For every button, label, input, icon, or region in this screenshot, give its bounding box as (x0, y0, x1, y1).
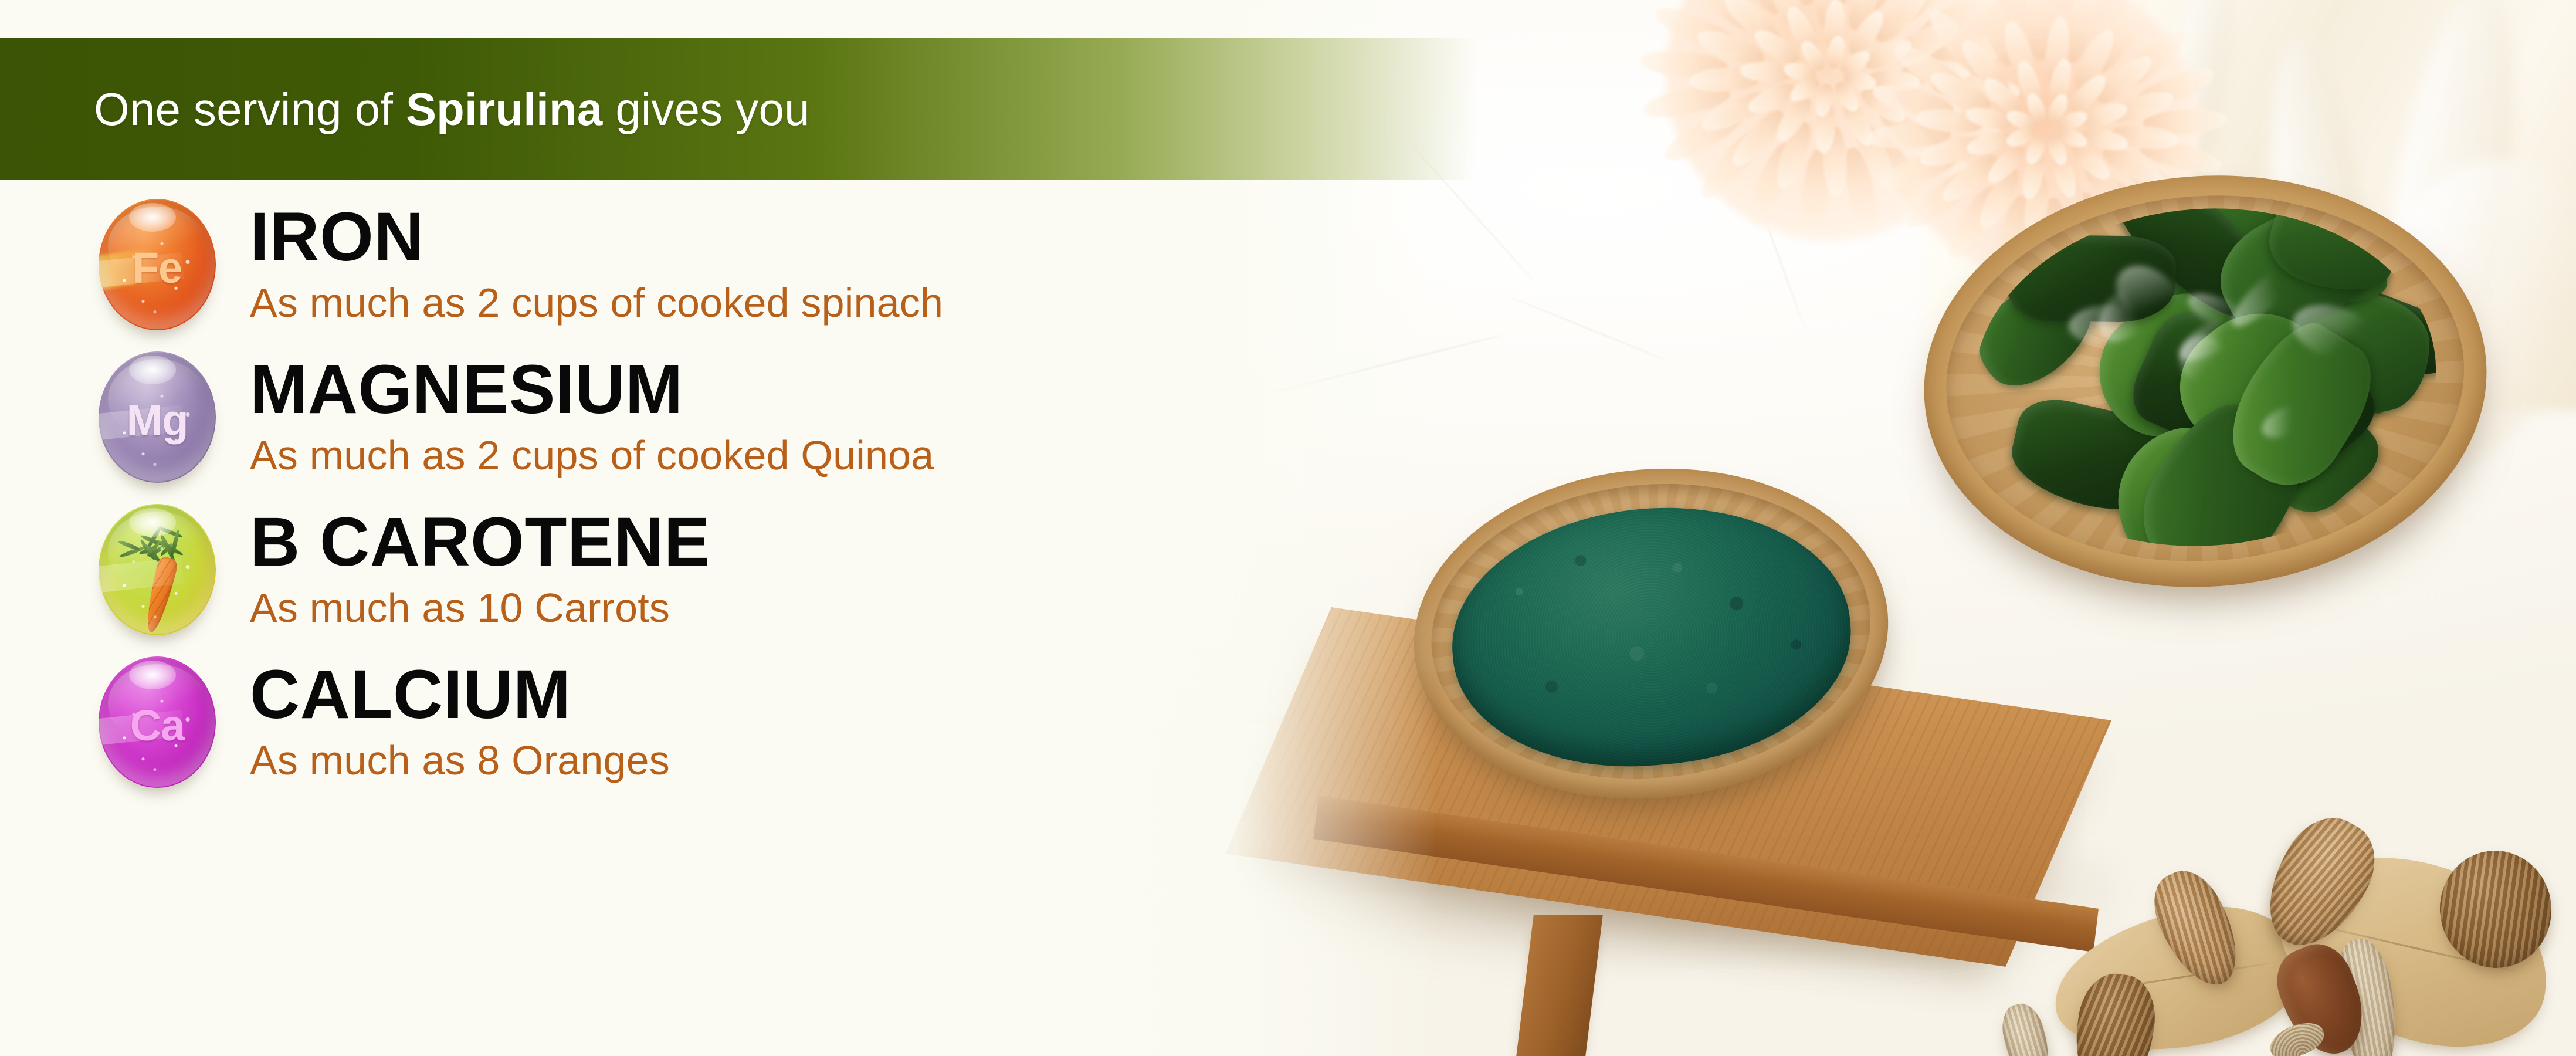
nutrient-title: IRON (250, 202, 943, 272)
list-item: Mg MAGNESIUM As much as 2 cups of cooked… (0, 339, 1408, 492)
nutrient-list: Fe IRON As much as 2 cups of cooked spin… (0, 187, 1408, 797)
element-symbol: Fe (99, 199, 216, 330)
calcium-bubble-icon: Ca (95, 656, 223, 784)
element-symbol (99, 504, 216, 635)
nutrient-subtitle: As much as 10 Carrots (250, 587, 710, 628)
magnesium-bubble-icon: Mg (95, 351, 223, 479)
seaweed-frond (2004, 234, 2176, 323)
list-item: Ca CALCIUM As much as 8 Oranges (0, 644, 1408, 797)
iron-bubble-icon: Fe (95, 199, 223, 327)
list-item: Fe IRON As much as 2 cups of cooked spin… (0, 187, 1408, 339)
nutrient-title: MAGNESIUM (250, 355, 934, 424)
element-symbol: Ca (99, 656, 216, 788)
nutrient-title: B CAROTENE (250, 507, 710, 577)
title-suffix: gives you (602, 83, 809, 135)
list-item: B CAROTENE As much as 10 Carrots (0, 492, 1408, 644)
element-symbol: Mg (99, 351, 216, 483)
carrot-bubble-icon (95, 504, 223, 632)
page-title: One serving of Spirulina gives you (94, 86, 810, 132)
title-highlight: Spirulina (406, 83, 603, 135)
nutrient-subtitle: As much as 8 Oranges (250, 740, 670, 781)
nutrient-title: CALCIUM (250, 660, 670, 729)
header-banner: One serving of Spirulina gives you (0, 38, 1478, 180)
nutrient-subtitle: As much as 2 cups of cooked Quinoa (250, 435, 934, 476)
title-prefix: One serving of (94, 83, 406, 135)
nutrient-subtitle: As much as 2 cups of cooked spinach (250, 282, 943, 323)
